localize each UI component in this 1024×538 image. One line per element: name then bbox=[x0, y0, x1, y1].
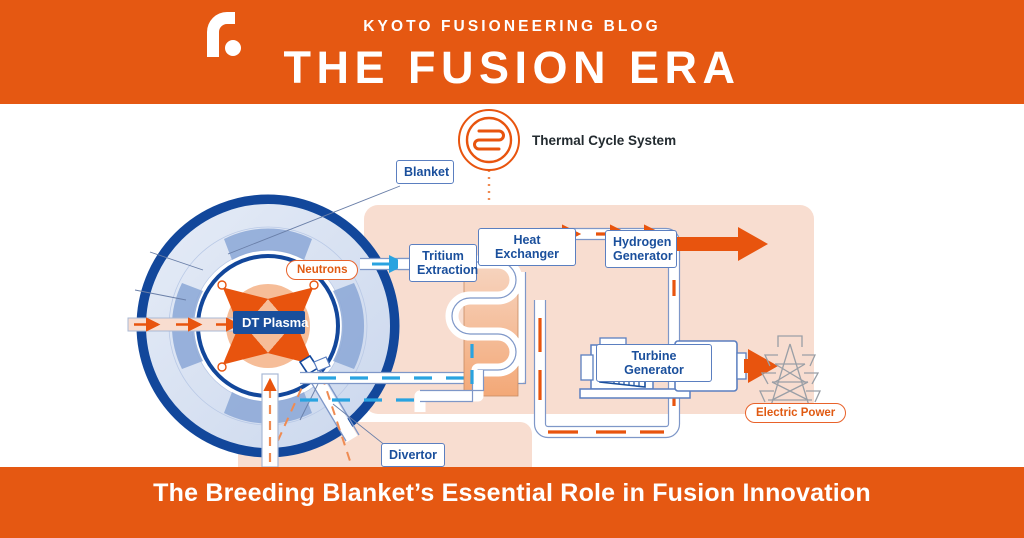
blanket-label[interactable]: Blanket bbox=[396, 160, 454, 184]
electric-power-badge: Electric Power bbox=[745, 403, 846, 423]
dt-plasma-label: DT Plasma bbox=[233, 311, 305, 334]
diagram-canvas: Thermal Cycle System Blanket Tritium Ext… bbox=[0, 104, 1024, 467]
fuel-inlet-pipe bbox=[128, 318, 240, 331]
thermal-cycle-icon bbox=[459, 110, 519, 170]
tritium-extraction-label[interactable]: Tritium Extraction bbox=[409, 244, 477, 282]
heat-exchanger-label[interactable]: Heat Exchanger bbox=[478, 228, 576, 266]
divertor-label[interactable]: Divertor bbox=[381, 443, 445, 467]
blog-kicker: KYOTO FUSIONEERING BLOG bbox=[0, 18, 1024, 36]
tokamak-reactor bbox=[0, 104, 400, 467]
page-root: KYOTO FUSIONEERING BLOG THE FUSION ERA bbox=[0, 0, 1024, 538]
hydrogen-generator-label[interactable]: Hydrogen Generator bbox=[605, 230, 677, 268]
header-banner: KYOTO FUSIONEERING BLOG THE FUSION ERA bbox=[0, 0, 1024, 104]
neutrons-badge: Neutrons bbox=[286, 260, 358, 280]
thermal-cycle-system-label: Thermal Cycle System bbox=[532, 133, 676, 148]
fusion-plant-diagram bbox=[0, 104, 1024, 467]
page-title: THE FUSION ERA bbox=[0, 44, 1024, 92]
article-subtitle: The Breeding Blanket’s Essential Role in… bbox=[0, 479, 1024, 508]
turbine-generator-label[interactable]: Turbine Generator bbox=[596, 344, 712, 382]
coolant-return-pipe bbox=[262, 374, 278, 467]
